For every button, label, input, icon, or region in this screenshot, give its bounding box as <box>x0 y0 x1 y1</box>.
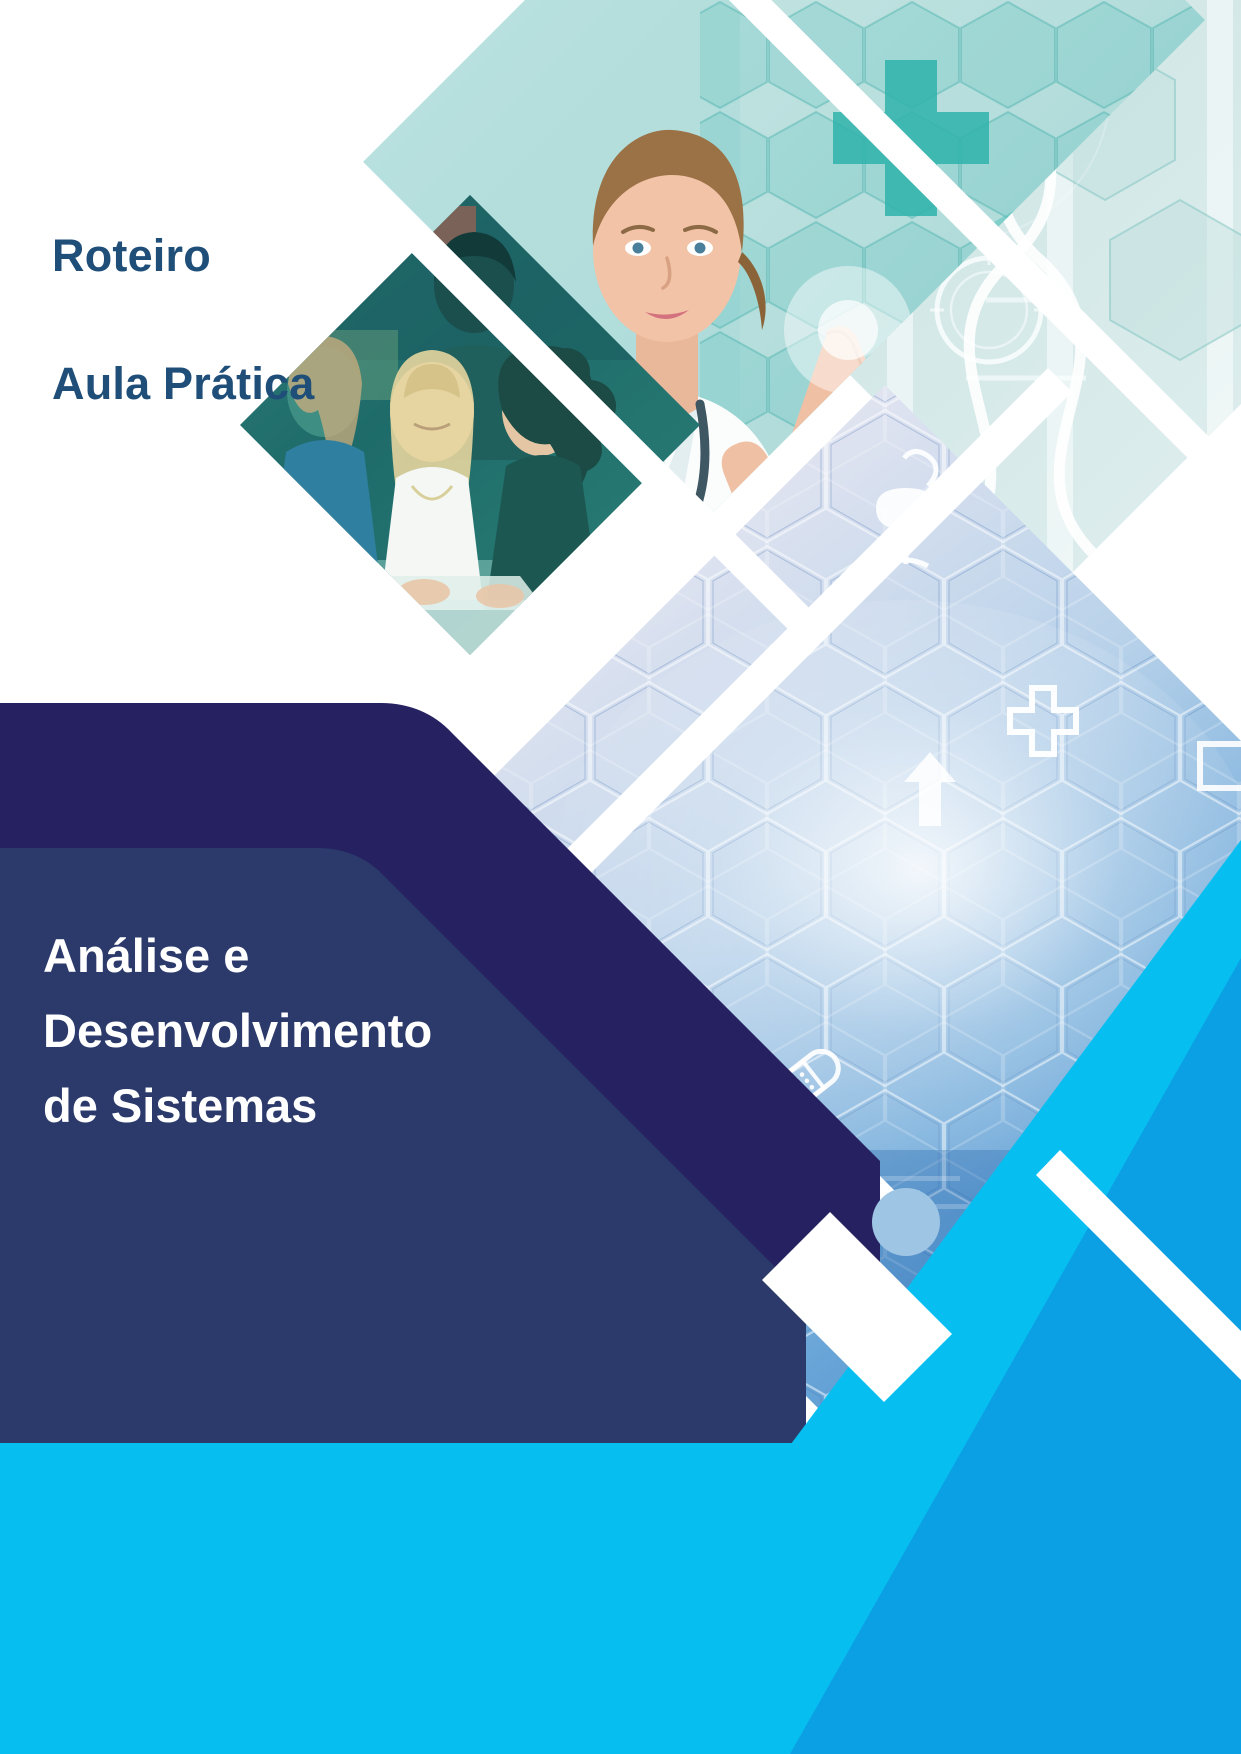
cover-kicker: Roteiro Aula Prática <box>52 160 315 479</box>
student-center <box>380 350 484 610</box>
kicker-line-2: Aula Prática <box>52 352 315 416</box>
cover-page: Roteiro Aula Prática Análise e Desenvolv… <box>0 0 1241 1754</box>
cover-main-title: Análise e Desenvolvimento de Sistemas <box>43 918 603 1144</box>
main-title-line-3: de Sistemas <box>43 1068 603 1143</box>
main-title-line-1: Análise e <box>43 918 603 993</box>
kicker-line-1: Roteiro <box>52 224 315 288</box>
main-title-line-2: Desenvolvimento <box>43 993 603 1068</box>
